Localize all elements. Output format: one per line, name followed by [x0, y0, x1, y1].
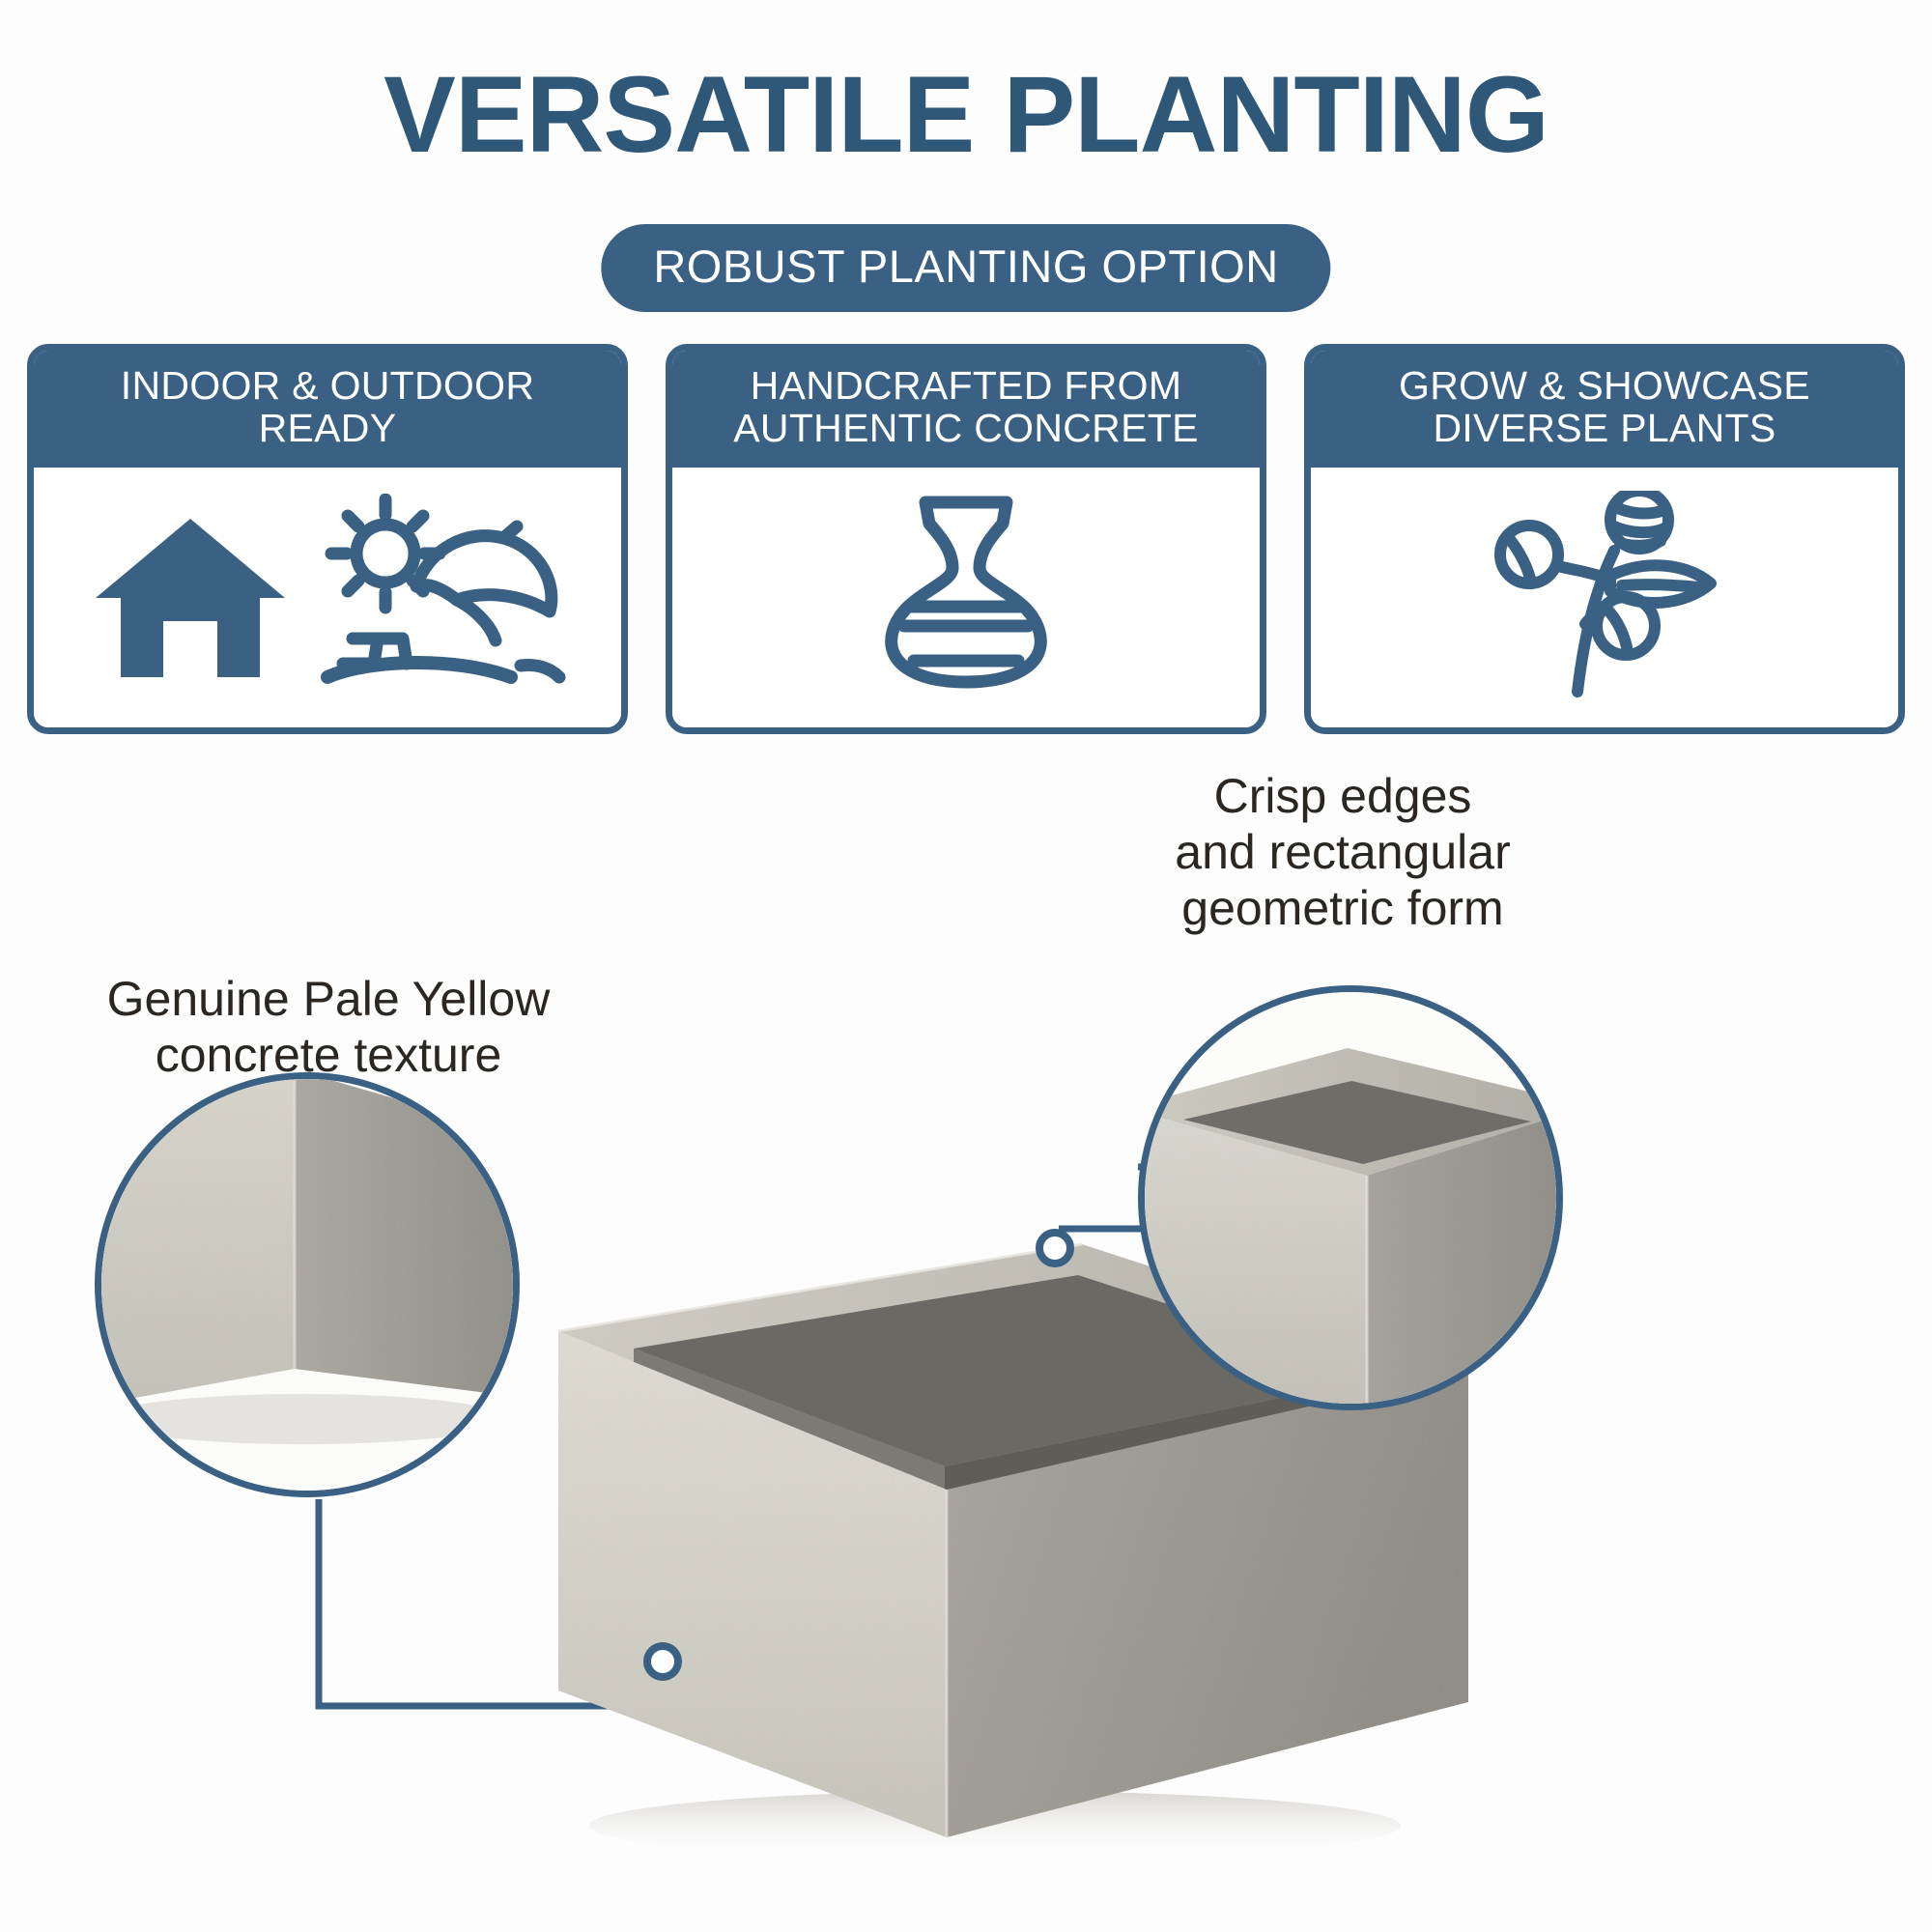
- card-heading: GROW & SHOWCASE DIVERSE PLANTS: [1311, 351, 1898, 468]
- card-heading-line2: READY: [43, 407, 611, 449]
- card-heading-line1: INDOOR & OUTDOOR: [43, 364, 611, 407]
- callout-right-line2: and rectangular: [1092, 824, 1594, 880]
- card-heading: INDOOR & OUTDOOR READY: [34, 351, 621, 468]
- callout-right: Crisp edges and rectangular geometric fo…: [1092, 768, 1594, 936]
- berry-branch-icon: [1469, 491, 1740, 699]
- card-heading-line1: HANDCRAFTED FROM: [682, 364, 1250, 407]
- page-title: VERSATILE PLANTING: [0, 60, 1932, 170]
- feature-card-diverse-plants: GROW & SHOWCASE DIVERSE PLANTS: [1304, 344, 1905, 734]
- feature-card-indoor-outdoor: INDOOR & OUTDOOR READY: [27, 344, 628, 734]
- infographic-page: VERSATILE PLANTING ROBUST PLANTING OPTIO…: [0, 0, 1932, 1932]
- card-icon-area: [1311, 468, 1898, 727]
- card-icon-area: [672, 468, 1260, 727]
- card-heading-line2: DIVERSE PLANTS: [1321, 407, 1889, 449]
- card-icon-area: [34, 468, 621, 727]
- callout-anchor-dot-left[interactable]: [643, 1642, 682, 1681]
- sun-icon: [331, 499, 440, 608]
- detail-zoom-right: [1138, 985, 1563, 1410]
- callout-right-line1: Crisp edges: [1092, 768, 1594, 824]
- card-heading-line1: GROW & SHOWCASE: [1321, 364, 1889, 407]
- callout-left: Genuine Pale Yellow concrete texture: [58, 971, 599, 1083]
- subtitle-badge: ROBUST PLANTING OPTION: [601, 224, 1330, 312]
- detail-zoom-left: [95, 1072, 520, 1497]
- feature-card-authentic-concrete: HANDCRAFTED FROM AUTHENTIC CONCRETE: [666, 344, 1266, 734]
- feature-card-row: INDOOR & OUTDOOR READY: [27, 344, 1905, 734]
- callout-anchor-dot-right[interactable]: [1036, 1229, 1074, 1267]
- callout-right-line3: geometric form: [1092, 880, 1594, 936]
- card-heading: HANDCRAFTED FROM AUTHENTIC CONCRETE: [672, 351, 1260, 468]
- callout-left-line1: Genuine Pale Yellow: [58, 971, 599, 1027]
- card-heading-line2: AUTHENTIC CONCRETE: [682, 407, 1250, 449]
- house-icon: [96, 519, 285, 677]
- vase-icon: [850, 491, 1082, 699]
